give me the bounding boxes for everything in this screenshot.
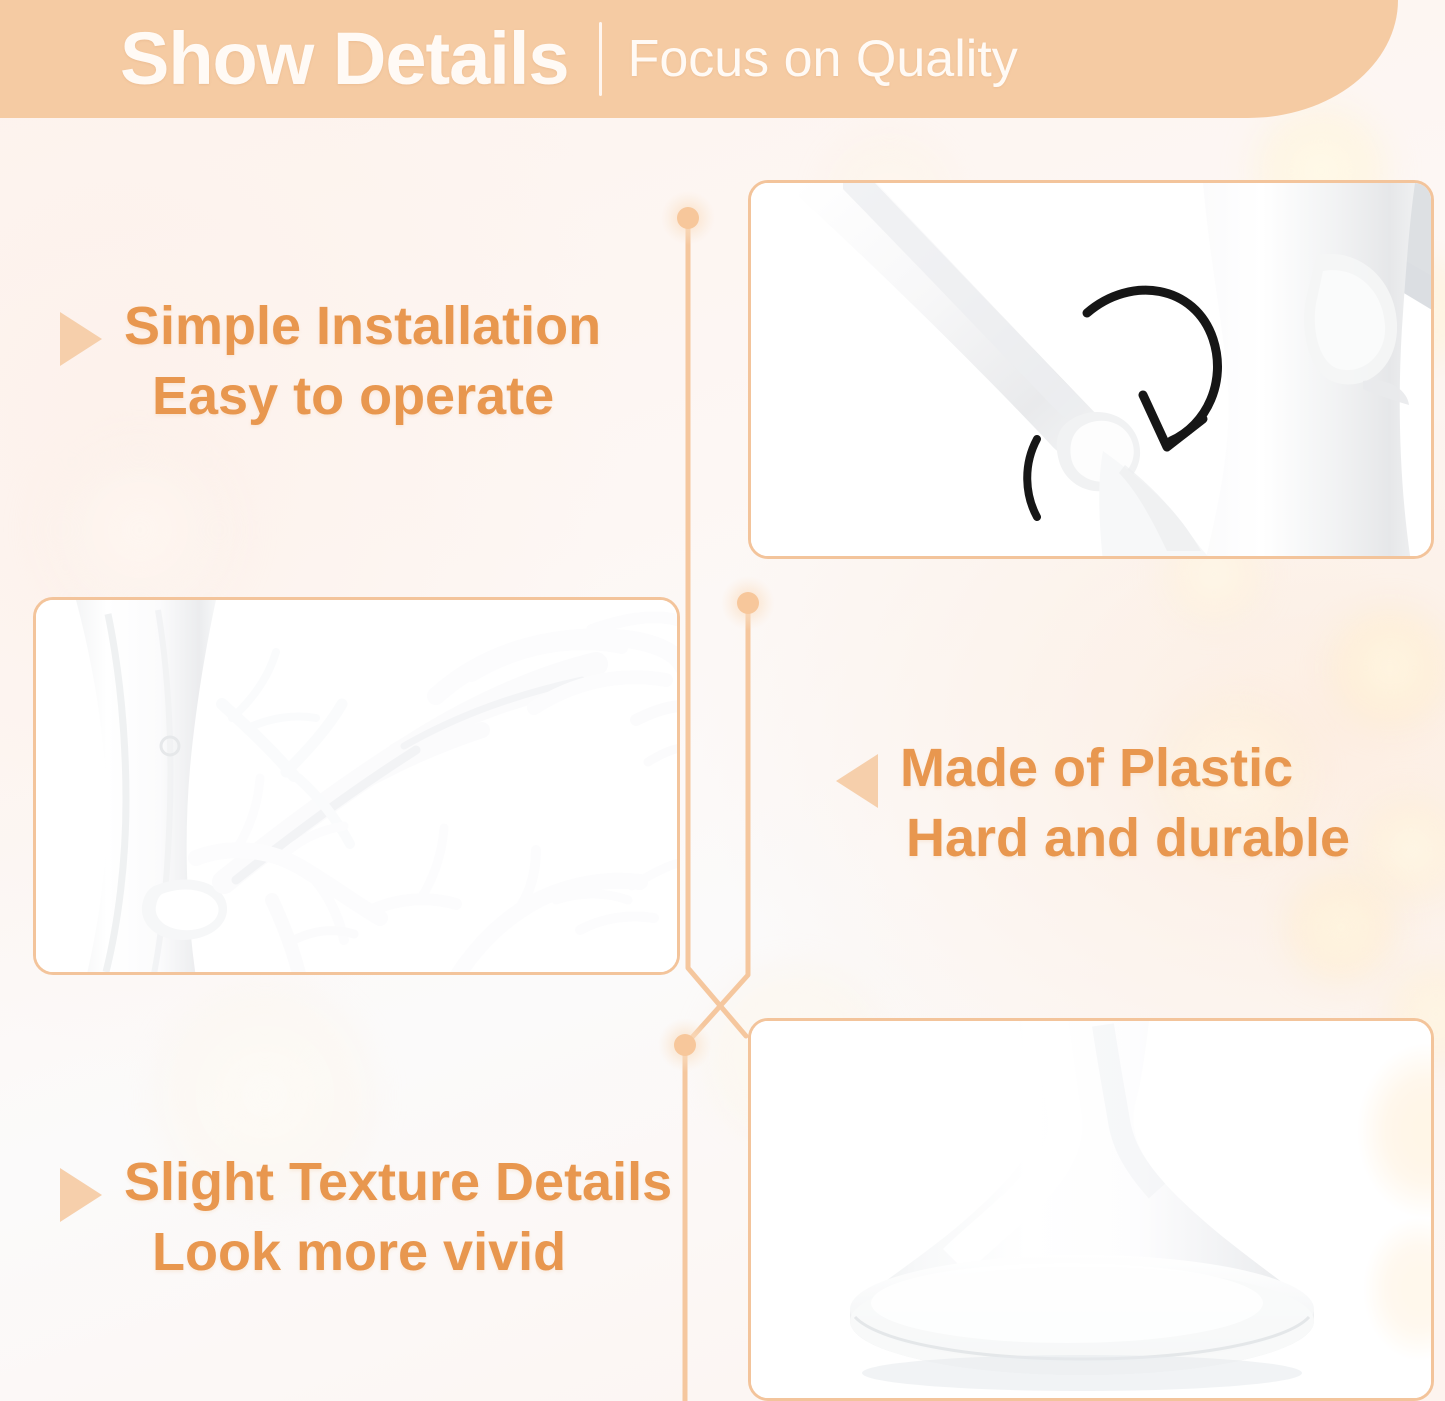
triangle-left-icon [836,754,878,808]
feature-headline: Simple Installation [124,296,601,358]
header-band: Show Details Focus on Quality [0,0,1398,118]
feature-subline: Hard and durable [906,808,1350,870]
page-subtitle: Focus on Quality [628,33,1018,85]
base-photo [748,1018,1434,1401]
feature-headline: Made of Plastic [900,738,1293,800]
page-title: Show Details [120,22,569,96]
feature-headline: Slight Texture Details [124,1152,672,1214]
feature-made-of-plastic: Made of Plastic Hard and durable [836,738,1350,869]
feature-text-block: Made of Plastic Hard and durable [900,738,1350,869]
feature-slight-texture-details: Slight Texture Details Look more vivid [60,1152,672,1283]
texture-photo-image [36,600,677,972]
feature-text-block: Simple Installation Easy to operate [124,296,601,427]
installation-photo-image [751,183,1431,556]
feature-text-block: Slight Texture Details Look more vivid [124,1152,672,1283]
header-content: Show Details Focus on Quality [120,0,1018,118]
header-divider [599,22,602,96]
base-photo-image [751,1021,1431,1398]
installation-photo [748,180,1434,559]
product-detail-infographic: Show Details Focus on Quality [0,0,1445,1401]
feature-subline: Easy to operate [152,366,601,428]
feature-simple-installation: Simple Installation Easy to operate [60,296,601,427]
texture-photo [33,597,680,975]
feature-subline: Look more vivid [152,1222,672,1284]
triangle-right-icon [60,312,102,366]
triangle-right-icon [60,1168,102,1222]
